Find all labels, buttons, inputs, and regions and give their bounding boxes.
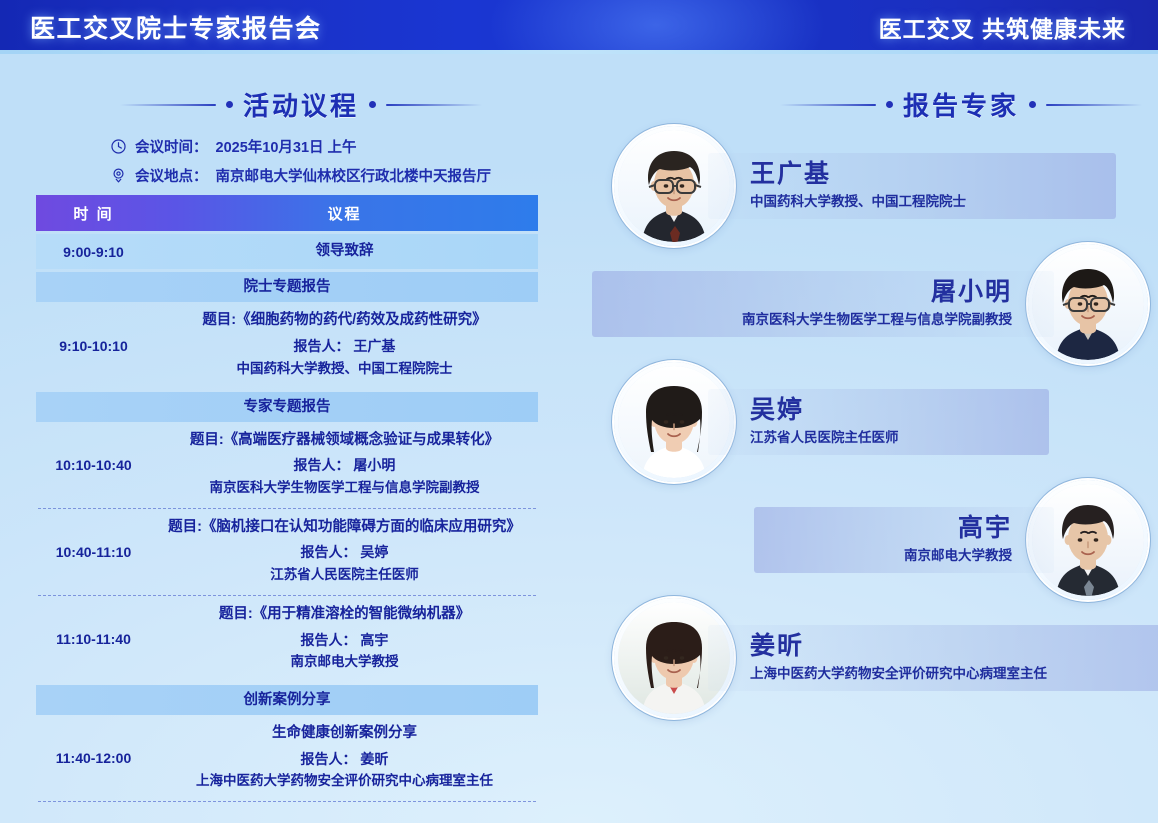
meeting-time-value: 2025年10月31日 上午 bbox=[216, 136, 357, 157]
row-content: 题目:《细胞药物的药代/药效及成药性研究》报告人： 王广基中国药科大学教授、中国… bbox=[151, 302, 538, 388]
agenda-section-title: 活动议程 bbox=[120, 86, 482, 123]
spk-title-dot-right-icon bbox=[1029, 101, 1036, 108]
speaker-name: 王广基 bbox=[750, 161, 966, 190]
header-underline bbox=[0, 50, 1158, 54]
row-topic: 题目:《用于精准溶栓的智能微纳机器》 bbox=[155, 603, 534, 625]
row-topic: 题目:《脑机接口在认知功能障碍方面的临床应用研究》 bbox=[155, 516, 534, 538]
speaker-name: 姜昕 bbox=[750, 633, 1047, 662]
table-row: 10:40-11:10题目:《脑机接口在认知功能障碍方面的临床应用研究》报告人：… bbox=[36, 509, 538, 595]
agenda-band: 专家专题报告 bbox=[36, 392, 538, 422]
speaker-org: 南京医科大学生物医学工程与信息学院副教授 bbox=[742, 311, 1012, 329]
table-row: 11:40-12:00生命健康创新案例分享报告人： 姜昕上海中医药大学药物安全评… bbox=[36, 715, 538, 801]
table-row: 10:10-10:40题目:《高端医疗器械领域概念验证与成果转化》报告人： 屠小… bbox=[36, 422, 538, 508]
speaker-card[interactable]: 吴婷江苏省人民医院主任医师 bbox=[614, 362, 915, 482]
meeting-time-row: 会议时间： 2025年10月31日 上午 bbox=[110, 136, 491, 157]
spk-title-dot-left-icon bbox=[886, 101, 893, 108]
row-topic: 生命健康创新案例分享 bbox=[155, 722, 534, 744]
row-content: 题目:《脑机接口在认知功能障碍方面的临床应用研究》报告人： 吴婷江苏省人民医院主… bbox=[151, 509, 538, 595]
speaker-org: 南京邮电大学教授 bbox=[904, 547, 1012, 565]
title-rule-right bbox=[386, 104, 482, 106]
meeting-location-label: 会议地点： bbox=[135, 165, 208, 186]
row-time: 10:10-10:40 bbox=[36, 422, 151, 508]
speaker-name: 屠小明 bbox=[742, 279, 1012, 308]
row-speaker: 报告人： 屠小明 bbox=[155, 454, 534, 478]
row-time: 11:10-11:40 bbox=[36, 596, 151, 682]
row-speaker: 报告人： 姜昕 bbox=[155, 748, 534, 772]
agenda-table-header: 时 间 议程 bbox=[36, 195, 538, 231]
row-org: 南京医科大学生物医学工程与信息学院副教授 bbox=[155, 478, 534, 499]
row-topic: 题目:《细胞药物的药代/药效及成药性研究》 bbox=[155, 309, 534, 331]
speaker-text: 王广基中国药科大学教授、中国工程院院士 bbox=[734, 161, 982, 210]
header-bar: 医工交叉院士专家报告会 医工交叉 共筑健康未来 bbox=[0, 0, 1158, 50]
speaker-card[interactable]: 屠小明南京医科大学生物医学工程与信息学院副教授 bbox=[726, 244, 1148, 364]
row-title: 领导致辞 bbox=[157, 240, 532, 262]
spk-title-rule-right bbox=[1046, 104, 1142, 106]
clock-icon bbox=[110, 138, 127, 155]
spk-title-rule-left bbox=[780, 104, 876, 106]
agenda-title-text: 活动议程 bbox=[243, 86, 359, 123]
row-org: 上海中医药大学药物安全评价研究中心病理室主任 bbox=[155, 771, 534, 792]
row-content: 题目:《用于精准溶栓的智能微纳机器》报告人： 高宇南京邮电大学教授 bbox=[151, 596, 538, 682]
row-speaker: 报告人： 吴婷 bbox=[155, 541, 534, 565]
row-content: 领导致辞 bbox=[151, 234, 538, 269]
page-title: 医工交叉院士专家报告会 bbox=[30, 9, 322, 45]
speaker-org: 中国药科大学教授、中国工程院院士 bbox=[750, 193, 966, 211]
speaker-org: 上海中医药大学药物安全评价研究中心病理室主任 bbox=[750, 665, 1047, 683]
meeting-location-row: 会议地点： 南京邮电大学仙林校区行政北楼中天报告厅 bbox=[110, 165, 491, 186]
speaker-name: 高宇 bbox=[904, 515, 1012, 544]
speakers-title-text: 报告专家 bbox=[903, 86, 1019, 123]
table-row: 9:00-9:10领导致辞 bbox=[36, 234, 538, 269]
table-row: 11:10-11:40题目:《用于精准溶栓的智能微纳机器》报告人： 高宇南京邮电… bbox=[36, 596, 538, 682]
meeting-meta: 会议时间： 2025年10月31日 上午 会议地点： 南京邮电大学仙林校区行政北… bbox=[110, 136, 491, 194]
row-org: 南京邮电大学教授 bbox=[155, 652, 534, 673]
title-dot-right-icon bbox=[369, 101, 376, 108]
agenda-band: 创新案例分享 bbox=[36, 685, 538, 715]
row-content: 生命健康创新案例分享报告人： 姜昕上海中医药大学药物安全评价研究中心病理室主任 bbox=[151, 715, 538, 801]
speaker-card[interactable]: 姜昕上海中医药大学药物安全评价研究中心病理室主任 bbox=[614, 598, 1063, 718]
row-divider bbox=[38, 595, 536, 596]
column-header-agenda: 议程 bbox=[151, 203, 538, 224]
speaker-text: 姜昕上海中医药大学药物安全评价研究中心病理室主任 bbox=[734, 633, 1063, 682]
row-time: 10:40-11:10 bbox=[36, 509, 151, 595]
speaker-text: 吴婷江苏省人民医院主任医师 bbox=[734, 397, 915, 446]
title-dot-left-icon bbox=[226, 101, 233, 108]
speaker-text: 屠小明南京医科大学生物医学工程与信息学院副教授 bbox=[726, 279, 1028, 328]
title-rule-left bbox=[120, 104, 216, 106]
row-divider bbox=[38, 801, 536, 802]
speakers-list: 王广基中国药科大学教授、中国工程院院士屠小明南京医科大学生物医学工程与信息学院副… bbox=[600, 126, 1158, 776]
row-speaker: 报告人： 王广基 bbox=[155, 335, 534, 359]
meeting-time-label: 会议时间： bbox=[135, 136, 208, 157]
agenda-table-body: 9:00-9:10领导致辞院士专题报告9:10-10:10题目:《细胞药物的药代… bbox=[36, 234, 538, 802]
meeting-location-value: 南京邮电大学仙林校区行政北楼中天报告厅 bbox=[216, 165, 492, 186]
row-time: 9:00-9:10 bbox=[36, 234, 151, 269]
poster-page: 医工交叉院士专家报告会 医工交叉 共筑健康未来 活动议程 会议时间： 2025年… bbox=[0, 0, 1158, 823]
speaker-org: 江苏省人民医院主任医师 bbox=[750, 429, 899, 447]
row-org: 江苏省人民医院主任医师 bbox=[155, 565, 534, 586]
row-content: 题目:《高端医疗器械领域概念验证与成果转化》报告人： 屠小明南京医科大学生物医学… bbox=[151, 422, 538, 508]
location-pin-icon bbox=[110, 167, 127, 184]
speakers-section-title: 报告专家 bbox=[780, 86, 1142, 123]
agenda-table: 时 间 议程 9:00-9:10领导致辞院士专题报告9:10-10:10题目:《… bbox=[36, 195, 538, 802]
speaker-name: 吴婷 bbox=[750, 397, 899, 426]
row-divider bbox=[38, 508, 536, 509]
row-time: 9:10-10:10 bbox=[36, 302, 151, 388]
row-topic: 题目:《高端医疗器械领域概念验证与成果转化》 bbox=[155, 429, 534, 451]
speaker-card[interactable]: 高宇南京邮电大学教授 bbox=[888, 480, 1148, 600]
speaker-card[interactable]: 王广基中国药科大学教授、中国工程院院士 bbox=[614, 126, 982, 246]
column-header-time: 时 间 bbox=[36, 203, 151, 224]
header-glow bbox=[486, 0, 826, 50]
header-slogan: 医工交叉 共筑健康未来 bbox=[879, 10, 1126, 44]
row-time: 11:40-12:00 bbox=[36, 715, 151, 801]
speaker-text: 高宇南京邮电大学教授 bbox=[888, 515, 1028, 564]
row-speaker: 报告人： 高宇 bbox=[155, 629, 534, 653]
row-org: 中国药科大学教授、中国工程院院士 bbox=[155, 359, 534, 380]
agenda-band: 院士专题报告 bbox=[36, 272, 538, 302]
table-row: 9:10-10:10题目:《细胞药物的药代/药效及成药性研究》报告人： 王广基中… bbox=[36, 302, 538, 388]
